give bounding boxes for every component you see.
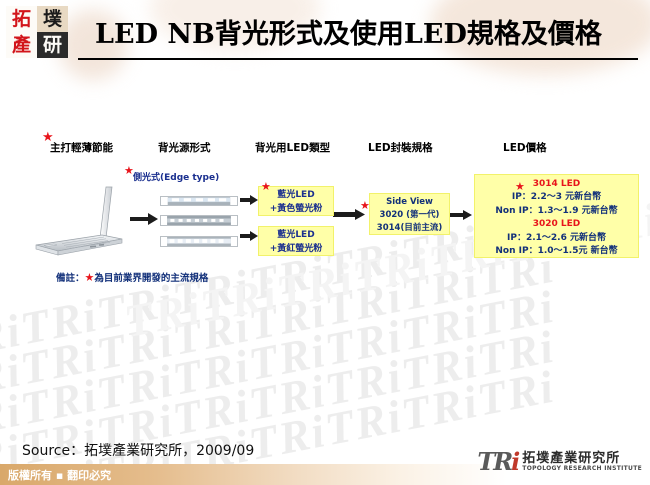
column-heading-2: 背光源形式 (158, 140, 211, 155)
tri-brand-logo: TRi 拓墣產業研究所 TOPOLOGY RESEARCH INSTITUTE (477, 450, 642, 474)
price-group-2-title: 3020 LED (475, 218, 638, 231)
tri-brand-english: TOPOLOGY RESEARCH INSTITUTE (522, 465, 642, 472)
tri-logo-mark: 拓 墣 產 研 (6, 6, 68, 58)
arrow-bar-to-ledtype-2 (240, 230, 258, 242)
slide-canvas: TRiTRiTRiTRiTRiTRiTRiTRi TRiTRiTRiTRiTRi… (0, 0, 650, 485)
star-icon: ★ (360, 200, 370, 211)
price-box: ★ 3014 LED IP：2.2～3 元新台幣 Non IP：1.3～1.9 … (474, 174, 639, 258)
package-spec-line-2: 3020 (第一代) (370, 209, 449, 222)
edge-type-label: ★ 側光式(Edge type) (133, 170, 219, 183)
logo-char-3: 產 (6, 32, 37, 58)
price-group-2-row-2: Non IP：1.0～1.5元 新台幣 (475, 245, 638, 258)
footnote-text: 為目前業界開發的主流規格 (94, 273, 208, 284)
column-heading-1: ★ 主打輕薄節能 (50, 140, 113, 155)
column-heading-3: 背光用LED類型 (255, 140, 330, 155)
tri-brand-chinese: 拓墣產業研究所 (522, 452, 642, 466)
price-group-1-row-2: Non IP：1.3～1.9 元新台幣 (475, 205, 638, 218)
package-spec-line-1: Side View (370, 196, 449, 209)
logo-char-4: 研 (37, 32, 68, 58)
copyright-text: 版權所有 ▪ 翻印必究 (8, 467, 111, 483)
led-type-box-1: ★ 藍光LED +黃色螢光粉 (258, 186, 334, 216)
package-spec-box: ★ Side View 3020 (第一代) 3014(目前主流) (369, 193, 450, 235)
column-heading-5: LED價格 (503, 140, 547, 155)
footnote: 備註：★為目前業界開發的主流規格 (56, 270, 208, 284)
led-type-box-2: 藍光LED +黃紅螢光粉 (258, 226, 334, 256)
tri-wordmark-i: i (511, 447, 518, 476)
star-icon: ★ (124, 165, 134, 176)
title-underline (78, 58, 638, 60)
led-type-box-1-line-2: +黃色螢光粉 (259, 202, 333, 216)
column-heading-4: LED封裝規格 (368, 140, 433, 155)
star-icon: ★ (515, 181, 525, 192)
laptop-illustration (32, 185, 127, 260)
star-icon: ★ (261, 181, 271, 192)
source-line: Source：拓墣產業研究所，2009/09 (22, 440, 254, 460)
arrow-package-to-price (450, 209, 472, 221)
page-title: LED NB背光形式及使用LED規格及價格 (95, 12, 635, 51)
arrow-bar-to-ledtype-1 (240, 194, 258, 206)
led-light-bar-2 (160, 215, 238, 226)
logo-char-2: 墣 (37, 6, 68, 32)
led-type-box-2-line-1: 藍光LED (259, 228, 333, 242)
package-spec-line-3: 3014(目前主流) (370, 222, 449, 235)
column-heading-5-label: LED價格 (503, 142, 547, 154)
column-heading-1-label: 主打輕薄節能 (50, 142, 113, 154)
led-light-bar-1 (160, 196, 238, 206)
led-type-box-2-line-2: +黃紅螢光粉 (259, 242, 333, 256)
column-heading-4-label: LED封裝規格 (368, 142, 433, 154)
price-group-1-title: 3014 LED (475, 178, 638, 191)
tri-wordmark: TRi (477, 450, 518, 474)
star-icon: ★ (85, 271, 95, 284)
footnote-prefix: 備註： (56, 273, 85, 284)
logo-char-1: 拓 (6, 6, 37, 32)
column-heading-2-label: 背光源形式 (158, 142, 211, 154)
star-icon: ★ (42, 131, 54, 144)
price-group-2-row-1: IP：2.1～2.6 元新台幣 (475, 232, 638, 245)
edge-type-label-text: 側光式(Edge type) (133, 173, 219, 183)
price-group-1-row-1: IP：2.2～3 元新台幣 (475, 191, 638, 204)
led-light-bar-3 (160, 236, 238, 247)
column-heading-3-label: 背光用LED類型 (255, 142, 330, 154)
arrow-laptop-to-backlight (130, 212, 158, 226)
